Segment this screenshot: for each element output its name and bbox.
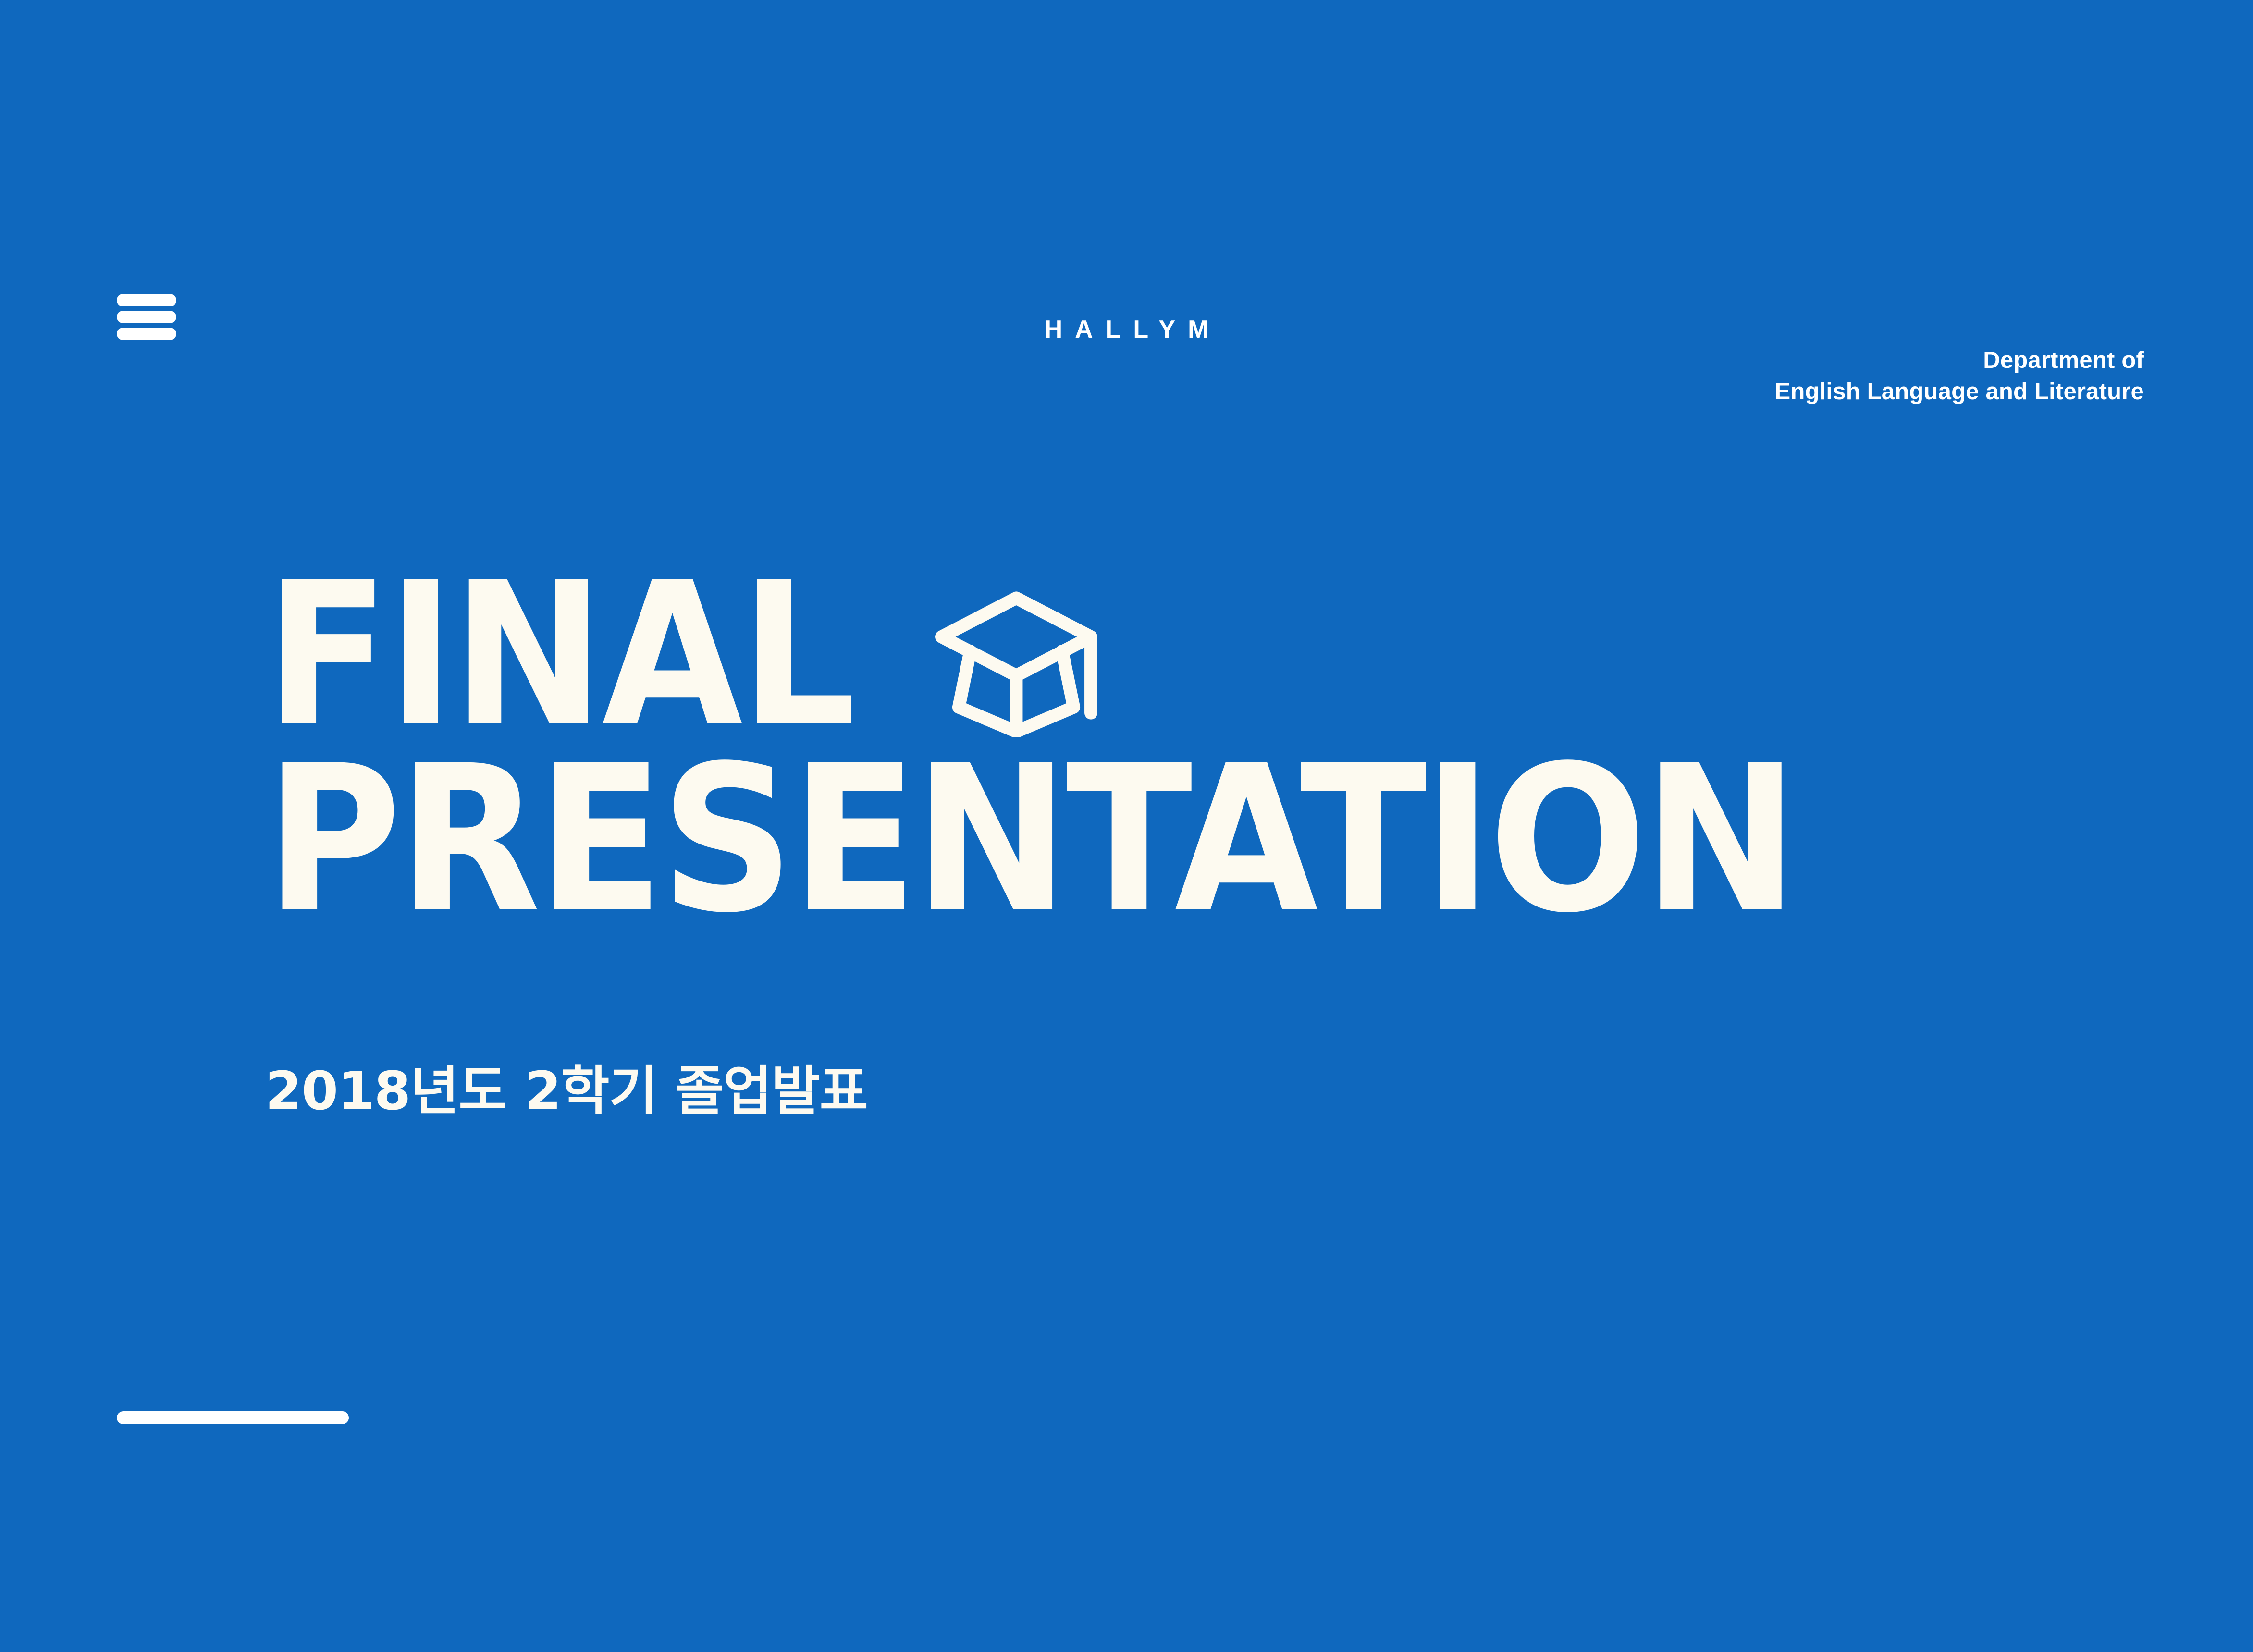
presentation-slide: HALLYM Department of English Language an…: [0, 0, 2253, 1652]
headline-row-two: PRESENTATION: [265, 737, 2043, 943]
subtitle: 2018년도 2학기 졸업발표: [265, 1065, 868, 1117]
headline-text-presentation: PRESENTATION: [265, 751, 1795, 929]
hamburger-bar-top: [117, 294, 176, 306]
department-line-2: English Language and Literature: [1774, 376, 2144, 407]
department-line-1: Department of: [1774, 345, 2144, 376]
graduation-cap-icon: [927, 584, 1106, 737]
headline-block: FINAL PRESENTATION: [265, 552, 2043, 943]
headline-text-final: FINAL: [265, 569, 853, 743]
footer-rule: [117, 1411, 349, 1424]
department-block: Department of English Language and Liter…: [1774, 345, 2144, 407]
brand-name: HALLYM: [0, 317, 2253, 342]
